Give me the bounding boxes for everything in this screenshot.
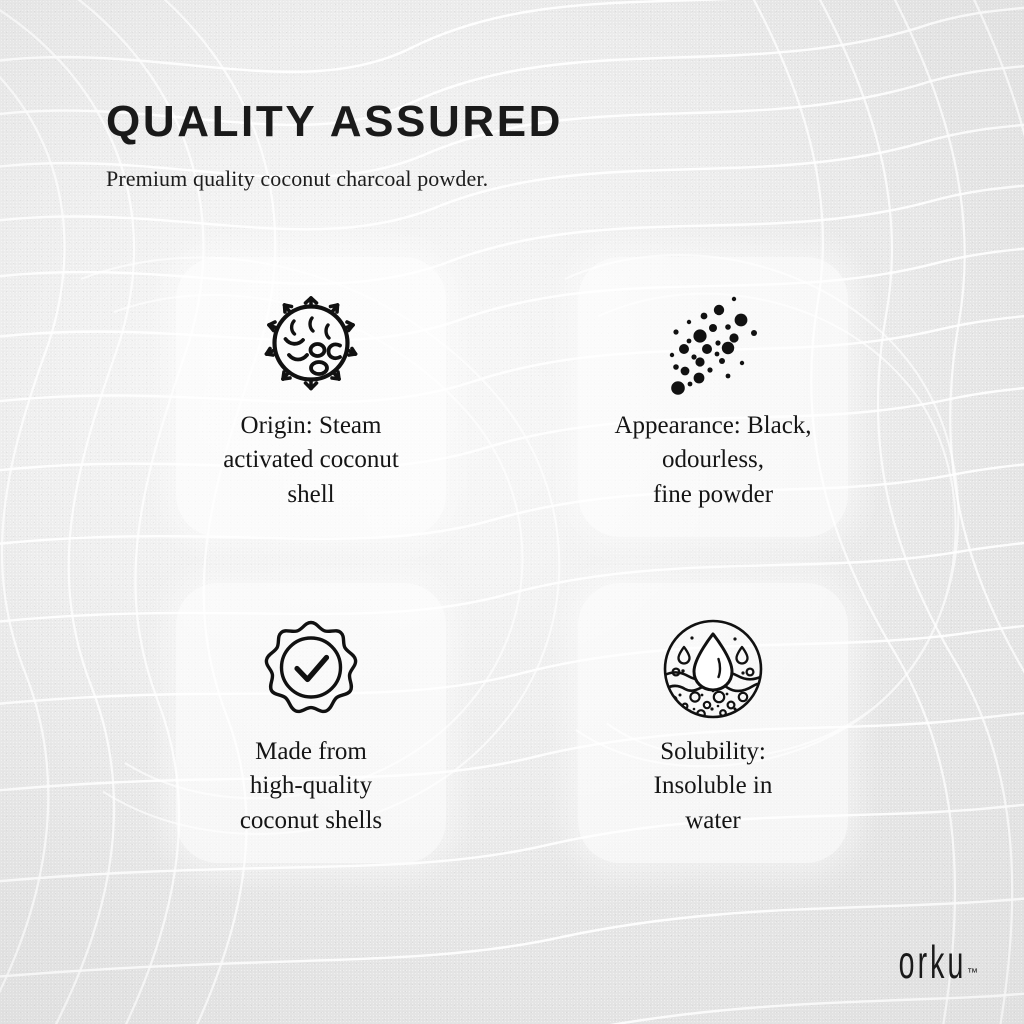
- text-line: fine powder: [591, 478, 835, 512]
- trademark-symbol: ™: [967, 967, 978, 979]
- feature-card-made-from-text: Made from high-quality coconut shells: [189, 735, 433, 838]
- text-line: Appearance: Black,: [591, 409, 835, 443]
- text-line: Insoluble in: [591, 769, 835, 803]
- header: QUALITY ASSURED Premium quality coconut …: [106, 100, 926, 192]
- text-line: coconut shells: [189, 804, 433, 838]
- page-subtitle: Premium quality coconut charcoal powder.: [106, 166, 926, 192]
- quality-assured-infographic: QUALITY ASSURED Premium quality coconut …: [0, 0, 1024, 1024]
- text-line: water: [591, 804, 835, 838]
- text-line: Origin: Steam: [189, 409, 433, 443]
- text-line: Made from: [189, 735, 433, 769]
- feature-card-origin-text: Origin: Steam activated coconut shell: [189, 409, 433, 512]
- page-title: QUALITY ASSURED: [106, 100, 926, 144]
- feature-card-appearance: Appearance: Black, odourless, fine powde…: [578, 257, 848, 537]
- brand-logo: orku ™: [857, 944, 978, 982]
- water-droplet-sediment-icon: [661, 617, 765, 721]
- text-line: shell: [189, 478, 433, 512]
- quality-badge-check-icon: [261, 617, 361, 721]
- brand-logo-wordmark: orku: [898, 944, 966, 982]
- text-line: Solubility:: [591, 735, 835, 769]
- text-line: odourless,: [591, 443, 835, 477]
- feature-card-solubility-text: Solubility: Insoluble in water: [591, 735, 835, 838]
- feature-card-appearance-text: Appearance: Black, odourless, fine powde…: [591, 409, 835, 512]
- feature-card-origin: Origin: Steam activated coconut shell: [176, 257, 446, 537]
- text-line: high-quality: [189, 769, 433, 803]
- feature-card-made-from: Made from high-quality coconut shells: [176, 583, 446, 863]
- text-line: activated coconut: [189, 443, 433, 477]
- coconut-icon: [260, 291, 362, 395]
- feature-card-grid: Origin: Steam activated coconut shell: [176, 257, 848, 863]
- powder-dots-icon: [662, 291, 764, 395]
- feature-card-solubility: Solubility: Insoluble in water: [578, 583, 848, 863]
